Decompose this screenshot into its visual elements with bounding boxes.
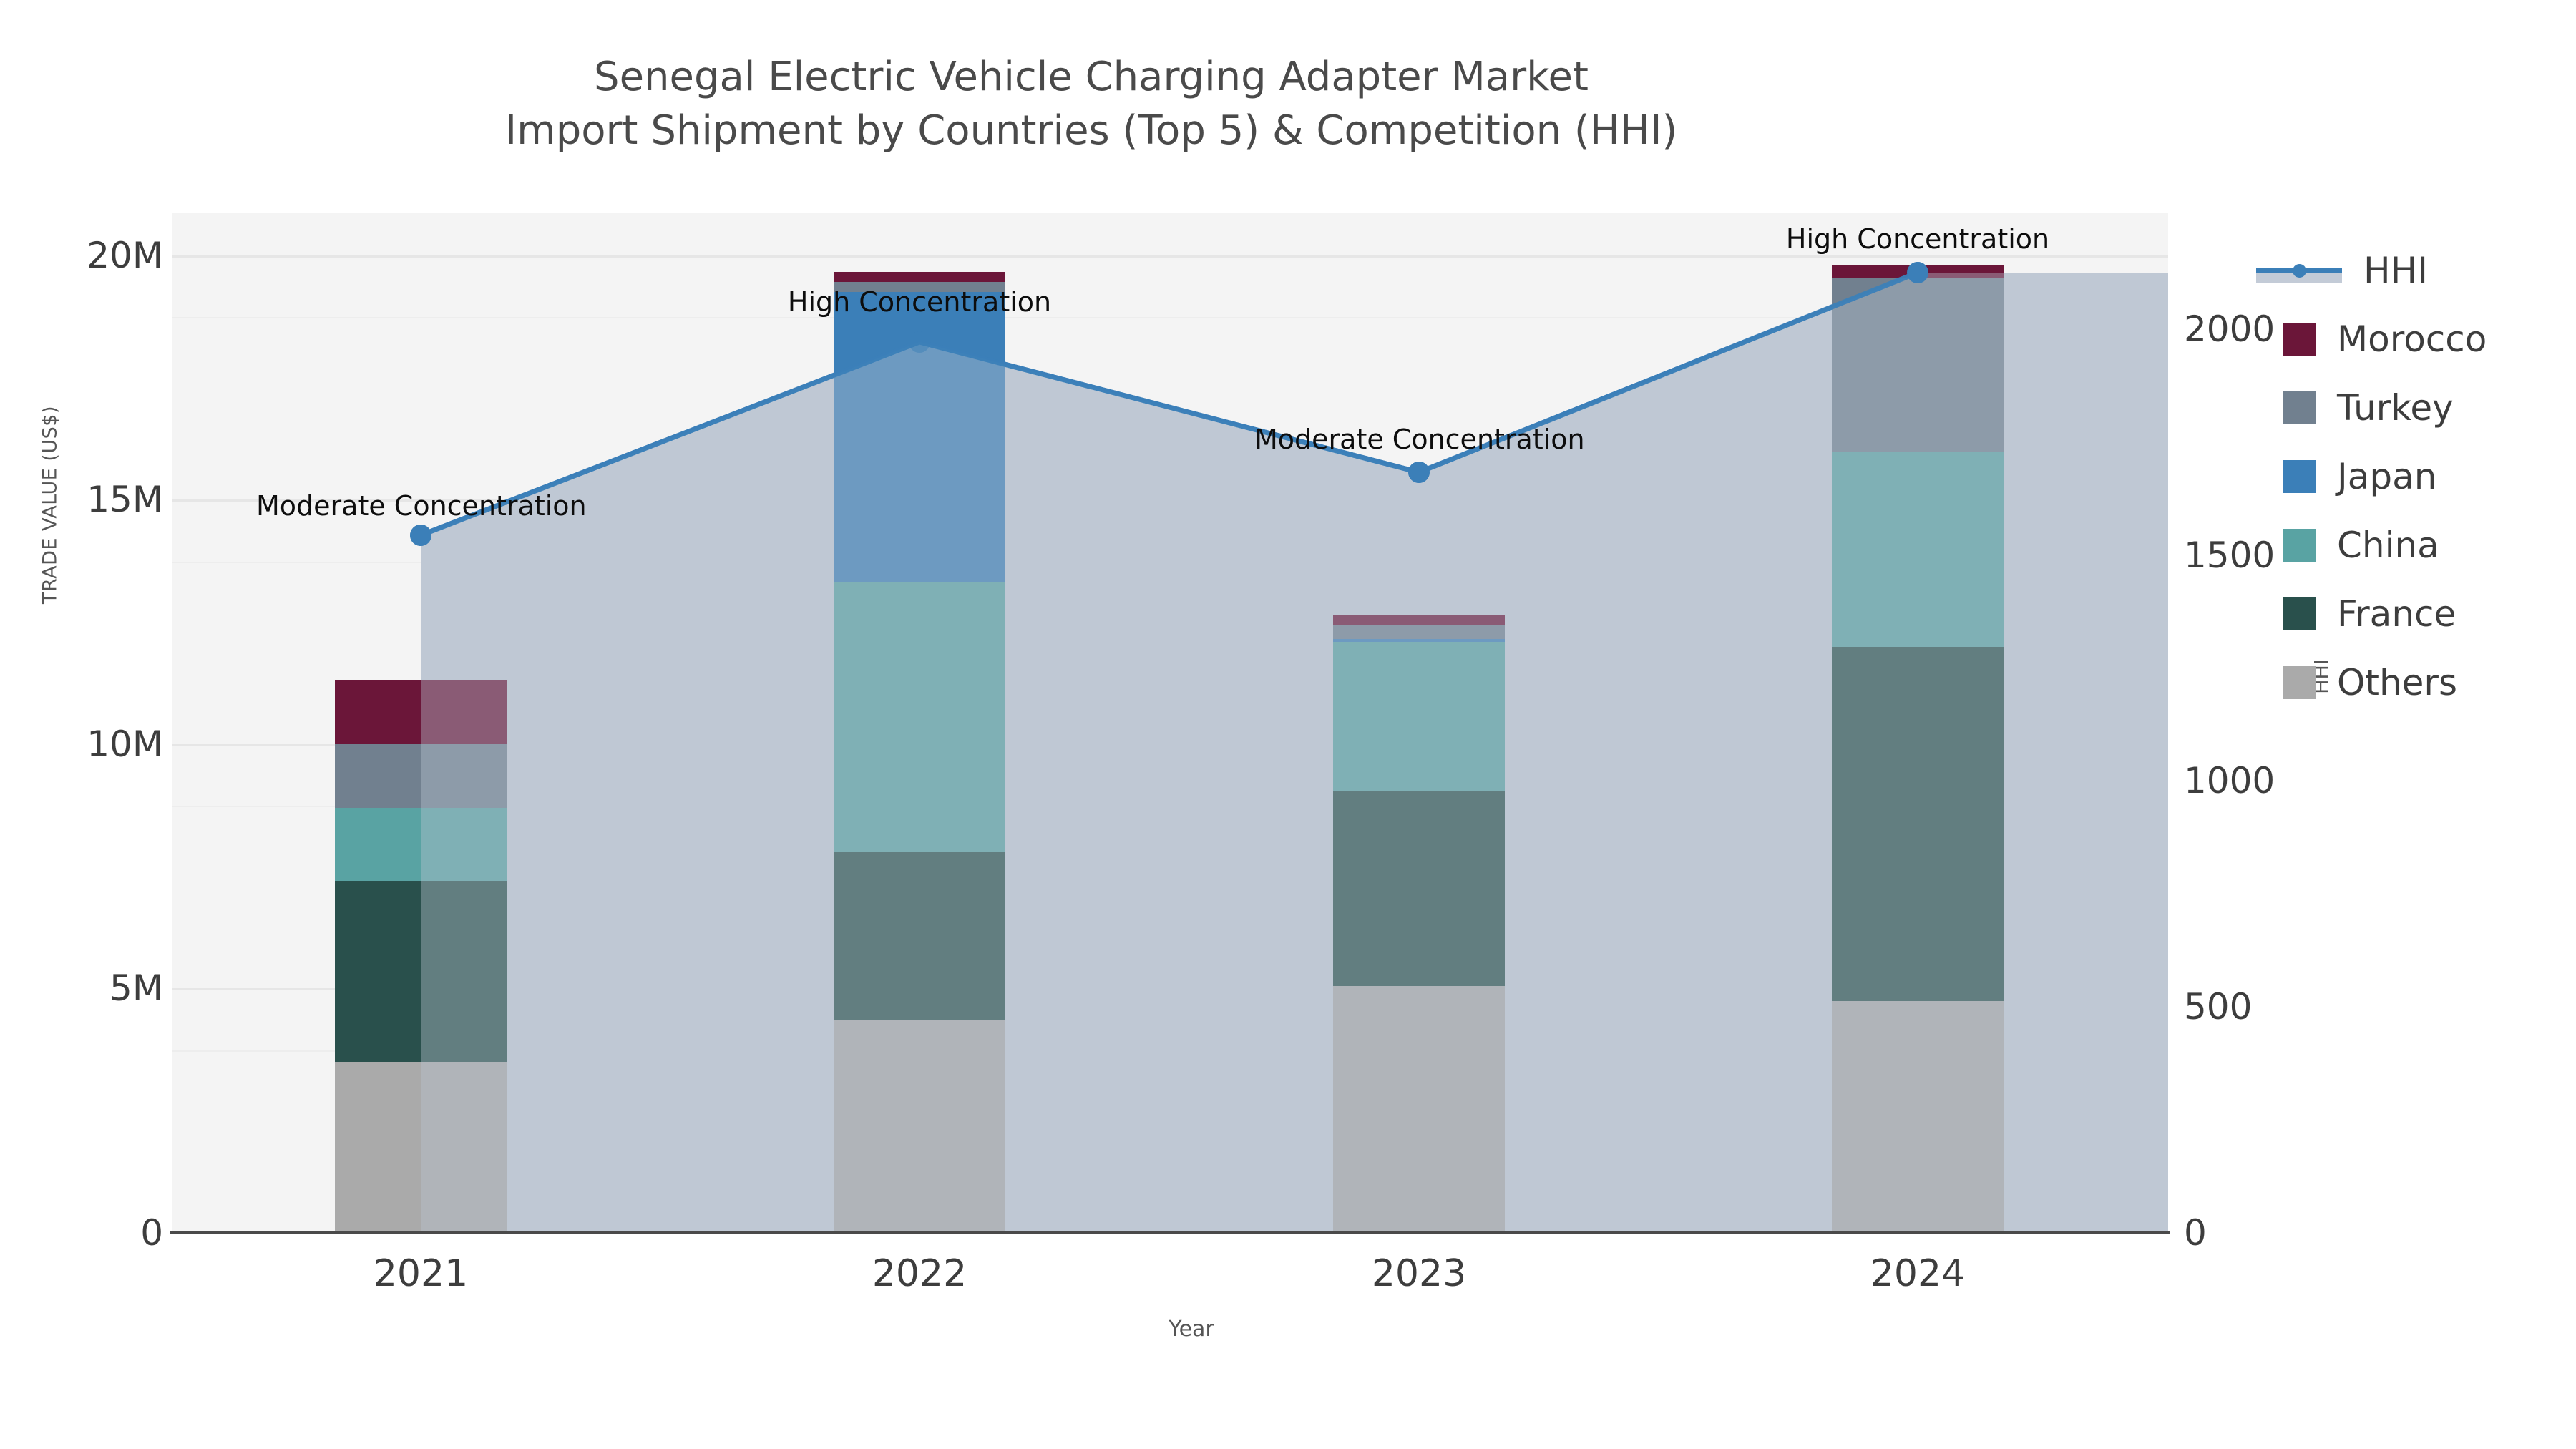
y2-axis-tick-0: 0 <box>2184 1212 2207 1254</box>
legend-label-japan: Japan <box>2337 456 2436 497</box>
bar-segment-2022-japan <box>834 292 1005 582</box>
legend-item-turkey[interactable]: Turkey <box>2283 374 2569 442</box>
bar-segment-2023-others <box>1333 986 1505 1233</box>
bar-segment-2022-others <box>834 1020 1005 1233</box>
bar-segment-2021-france <box>335 881 507 1062</box>
chart-title-line-2: Import Shipment by Countries (Top 5) & C… <box>0 104 2182 157</box>
legend-item-hhi[interactable]: HHI <box>2283 236 2569 305</box>
bar-segment-2022-china <box>834 582 1005 852</box>
swatch-china-icon <box>2283 529 2316 562</box>
hhi-line-icon <box>2256 254 2342 287</box>
chart-title: Senegal Electric Vehicle Charging Adapte… <box>0 50 2182 157</box>
bar-segment-2024-china <box>1832 452 2004 647</box>
legend-label-morocco: Morocco <box>2337 318 2487 360</box>
legend: HHI Morocco Turkey Japan China France Ot… <box>2283 236 2569 717</box>
bar-segment-2022-france <box>834 852 1005 1020</box>
swatch-morocco-icon <box>2283 323 2316 356</box>
bar-segment-2021-china <box>335 808 507 881</box>
legend-item-morocco[interactable]: Morocco <box>2283 305 2569 374</box>
y-axis-tick-5M: 5M <box>109 967 163 1009</box>
legend-item-others[interactable]: Others <box>2283 648 2569 717</box>
y2-axis-tick-1000: 1000 <box>2184 760 2275 801</box>
y2-axis-tick-1500: 1500 <box>2184 535 2275 576</box>
bar-segment-2023-france <box>1333 791 1505 986</box>
bar-segment-2023-japan <box>1333 639 1505 642</box>
bar-segment-2023-morocco <box>1333 615 1505 625</box>
bar-segment-2024-others <box>1832 1001 2004 1233</box>
annotation-2024: High Concentration <box>1782 223 2054 255</box>
annotation-2023: Moderate Concentration <box>1254 424 1584 455</box>
y-axis-tick-0: 0 <box>140 1212 163 1254</box>
x-axis-tick-2021: 2021 <box>278 1252 564 1295</box>
bar-segment-2024-morocco <box>1832 265 2004 278</box>
legend-label-turkey: Turkey <box>2337 387 2454 429</box>
bar-segment-2021-others <box>335 1062 507 1233</box>
bar-segment-2023-turkey <box>1333 625 1505 639</box>
x-axis-tick-2024: 2024 <box>1775 1252 2061 1295</box>
y-axis-tick-20M: 20M <box>87 235 163 276</box>
swatch-others-icon <box>2283 666 2316 699</box>
legend-item-china[interactable]: China <box>2283 511 2569 580</box>
hhi-marker-2021 <box>410 525 431 546</box>
y-axis-tick-15M: 15M <box>87 479 163 520</box>
annotation-2021: Moderate Concentration <box>256 490 585 522</box>
swatch-france-icon <box>2283 597 2316 630</box>
legend-label-france: France <box>2337 593 2456 635</box>
bar-segment-2023-china <box>1333 642 1505 791</box>
chart-title-line-1: Senegal Electric Vehicle Charging Adapte… <box>0 50 2182 104</box>
x-axis-tick-2023: 2023 <box>1276 1252 1562 1295</box>
x-axis-baseline <box>170 1231 2170 1234</box>
bar-segment-2021-morocco <box>335 680 507 744</box>
bar-segment-2021-turkey <box>335 744 507 808</box>
bar-segment-2022-morocco <box>834 272 1005 282</box>
swatch-japan-icon <box>2283 460 2316 493</box>
legend-label-hhi: HHI <box>2363 250 2428 291</box>
x-axis-label: Year <box>1013 1317 1370 1342</box>
y-axis-left-label: TRADE VALUE (US$) <box>39 355 62 655</box>
hhi-marker-2023 <box>1408 462 1430 483</box>
bar-segment-2024-turkey <box>1832 278 2004 452</box>
y2-axis-tick-2000: 2000 <box>2184 308 2275 350</box>
legend-item-japan[interactable]: Japan <box>2283 442 2569 511</box>
legend-label-china: China <box>2337 525 2439 566</box>
legend-label-others: Others <box>2337 662 2457 703</box>
bar-segment-2024-france <box>1832 647 2004 1001</box>
y-axis-tick-10M: 10M <box>87 723 163 765</box>
y2-axis-tick-500: 500 <box>2184 986 2252 1028</box>
x-axis-tick-2022: 2022 <box>776 1252 1063 1295</box>
chart-canvas: Senegal Electric Vehicle Charging Adapte… <box>0 0 2576 1449</box>
swatch-turkey-icon <box>2283 391 2316 424</box>
annotation-2022: High Concentration <box>784 286 1055 318</box>
legend-item-france[interactable]: France <box>2283 580 2569 648</box>
